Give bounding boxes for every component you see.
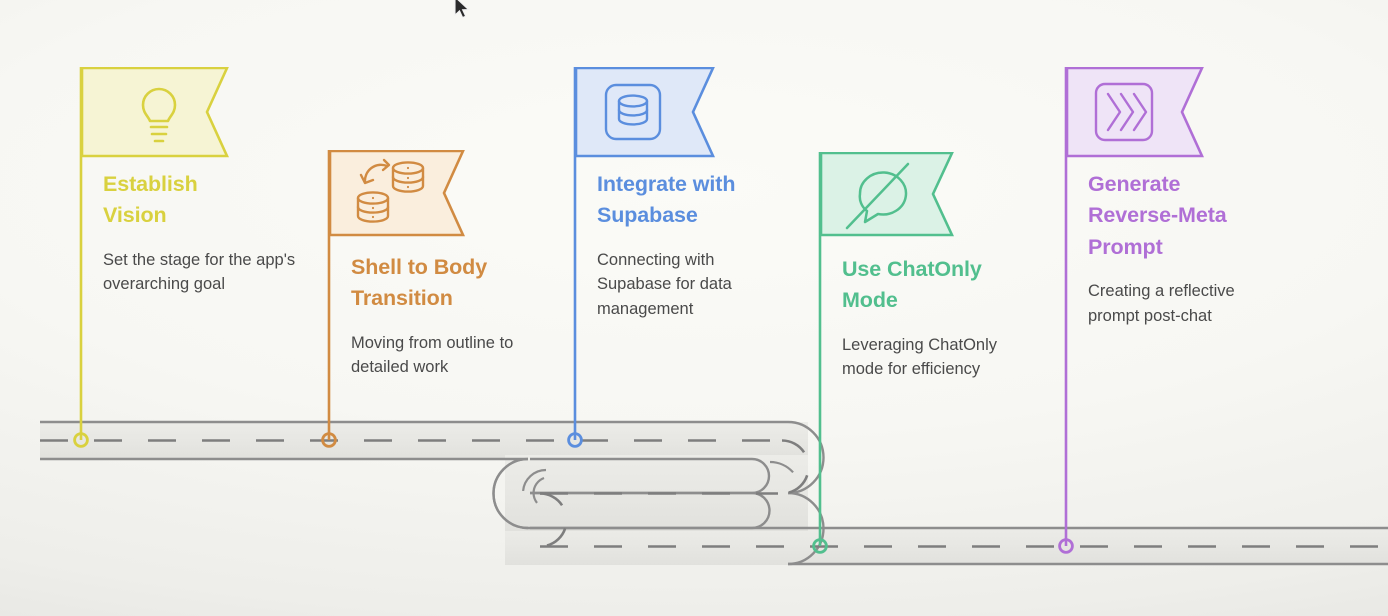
milestone-flag-2 [575,67,805,159]
milestone-integrate-with-supabase[interactable]: Integrate with Supabase Connecting with … [575,67,805,321]
milestone-flag-1 [329,150,559,242]
milestone-shell-to-body-transition[interactable]: Shell to Body Transition Moving from out… [329,150,559,380]
milestone-description: Creating a reflective prompt post-chat [1088,279,1278,328]
milestone-use-chatonly-mode[interactable]: Use ChatOnly Mode Leveraging ChatOnly mo… [820,152,1050,382]
milestone-generate-reverse-meta-prompt[interactable]: Generate Reverse-Meta Prompt Creating a … [1066,67,1296,328]
milestone-title: Integrate with Supabase [597,169,787,232]
milestone-title: Establish Vision [103,169,253,232]
milestone-description: Set the stage for the app's overarching … [103,248,298,297]
milestone-flag-0 [81,67,311,159]
milestone-title: Generate Reverse-Meta Prompt [1088,169,1268,263]
milestone-title: Shell to Body Transition [351,252,536,315]
milestone-establish-vision[interactable]: Establish Vision Set the stage for the a… [81,67,311,297]
roadmap-canvas: Establish Vision Set the stage for the a… [0,0,1388,616]
milestone-flag-4 [1066,67,1296,159]
milestone-flag-3 [820,152,1050,244]
road-edge-top-inner [40,459,528,528]
milestone-description: Moving from outline to detailed work [351,331,541,380]
milestone-description: Connecting with Supabase for data manage… [597,248,782,321]
milestone-title: Use ChatOnly Mode [842,254,1022,317]
milestone-description: Leveraging ChatOnly mode for efficiency [842,333,1037,382]
